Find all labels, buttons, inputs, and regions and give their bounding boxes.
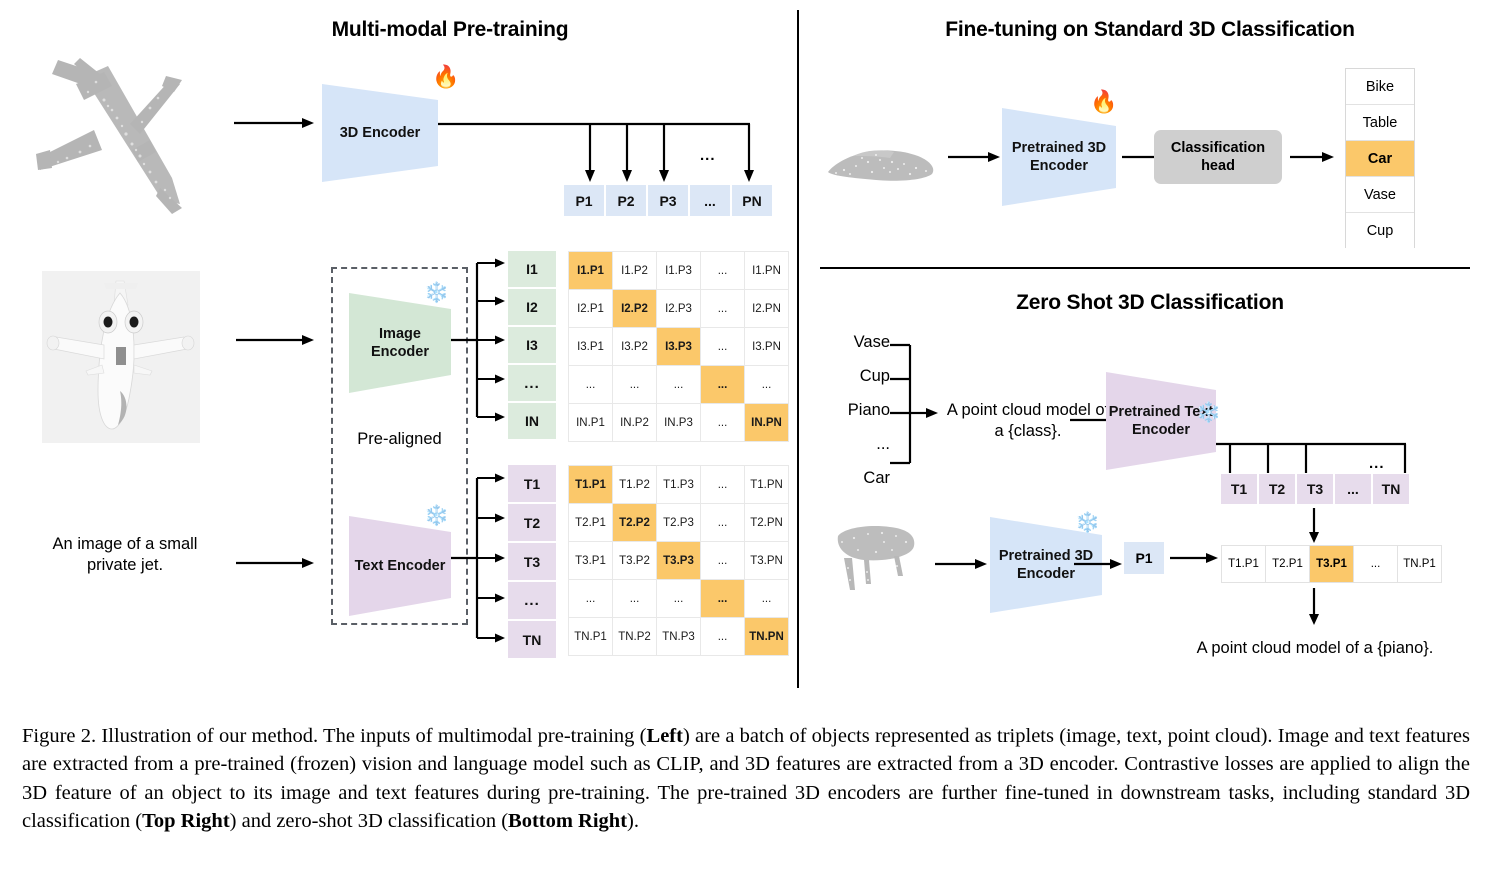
pretrained-3d-encoder-label: Pretrained 3D Encoder — [1002, 139, 1116, 175]
caption-number: Figure 2. — [22, 725, 96, 747]
image-feature-label[interactable]: I2 — [508, 289, 556, 325]
class-name: Piano — [826, 401, 890, 435]
car-point-cloud — [820, 138, 940, 188]
text-feature-label-column: T1 T2 T3 ... TN — [508, 465, 556, 658]
matrix-cell[interactable]: TN.P2 — [613, 618, 656, 655]
ellipsis-above-tn: ... — [1369, 455, 1385, 472]
t-feature-row-zeroshot: T1 T2 T3 ... TN — [1220, 473, 1410, 505]
matrix-cell[interactable]: T2.PN — [745, 504, 788, 541]
matrix-cell[interactable]: ... — [701, 290, 744, 327]
p-feature-cell[interactable]: P1 — [563, 184, 605, 217]
text-encoder-trapezoid: Text Encoder — [349, 516, 451, 616]
matrix-cell[interactable]: ... — [657, 366, 700, 403]
matrix-cell[interactable]: T3.PN — [745, 542, 788, 579]
class-item[interactable]: Vase — [1346, 177, 1414, 213]
arrow-head-to-classlist — [1290, 150, 1334, 164]
matrix-cell-diagonal[interactable]: I1.P1 — [569, 252, 612, 289]
matrix-cell[interactable]: TN.P3 — [657, 618, 700, 655]
arrow-text-to-text-encoder — [236, 556, 314, 570]
text-encoder-label: Text Encoder — [355, 557, 446, 575]
top-right-panel-title: Fine-tuning on Standard 3D Classificatio… — [830, 18, 1470, 42]
snowflake-icon-text-encoder-zs: ❄️ — [1196, 403, 1221, 423]
arrow-pointcloud-to-3d-encoder — [234, 116, 314, 130]
figure-caption: Figure 2. Illustration of our method. Th… — [22, 722, 1470, 835]
left-panel-title: Multi-modal Pre-training — [240, 18, 660, 42]
matrix-cell[interactable]: I1.P2 — [613, 252, 656, 289]
text-feature-label[interactable]: T2 — [508, 504, 556, 541]
matrix-cell[interactable]: ... — [701, 466, 744, 503]
matrix-cell[interactable]: T2.P1 — [569, 504, 612, 541]
p-feature-cell[interactable]: P3 — [647, 184, 689, 217]
matrix-cell[interactable]: T3.P1 — [569, 542, 612, 579]
p-feature-row: P1 P2 P3 ... PN — [563, 184, 773, 217]
similarity-cell[interactable]: ... — [1354, 546, 1397, 582]
matrix-cell[interactable]: ... — [569, 366, 612, 403]
panel-vertical-divider — [797, 10, 799, 688]
matrix-cell[interactable]: I2.P3 — [657, 290, 700, 327]
classification-head-box[interactable]: Classification head — [1154, 130, 1282, 184]
matrix-cell[interactable]: ... — [701, 404, 744, 441]
encoder-3d-label: 3D Encoder — [340, 124, 421, 142]
text-feature-label[interactable]: T1 — [508, 465, 556, 502]
matrix-cell[interactable]: IN.P2 — [613, 404, 656, 441]
bus-image-encoder-to-i-labels — [451, 255, 507, 425]
p-feature-cell[interactable]: P2 — [605, 184, 647, 217]
class-item-selected[interactable]: Car — [1346, 141, 1414, 177]
class-name: Car — [826, 469, 890, 503]
class-item[interactable]: Cup — [1346, 213, 1414, 249]
fire-icon-topright-encoder: 🔥 — [1090, 91, 1117, 113]
arrow-similarity-to-result — [1307, 588, 1321, 626]
class-item[interactable]: Bike — [1346, 69, 1414, 105]
matrix-cell-diagonal[interactable]: T1.P1 — [569, 466, 612, 503]
matrix-cell[interactable]: T1.P2 — [613, 466, 656, 503]
class-name: Vase — [826, 333, 890, 367]
matrix-cell-diagonal[interactable]: I2.P2 — [613, 290, 656, 327]
ellipsis-above-pn: ... — [700, 147, 716, 164]
similarity-cell[interactable]: T2.P1 — [1266, 546, 1309, 582]
piano-point-cloud — [828, 518, 928, 598]
text-feature-label[interactable]: TN — [508, 621, 556, 658]
classification-head-label: Classification head — [1154, 139, 1282, 175]
class-name: ... — [826, 435, 890, 469]
matrix-cell[interactable]: I2.P1 — [569, 290, 612, 327]
matrix-cell[interactable]: ... — [701, 252, 744, 289]
matrix-cell[interactable]: ... — [701, 542, 744, 579]
matrix-cell-diagonal[interactable]: I3.P3 — [657, 328, 700, 365]
p-feature-cell[interactable]: ... — [689, 184, 731, 217]
matrix-cell[interactable]: TN.P1 — [569, 618, 612, 655]
matrix-cell[interactable]: ... — [701, 504, 744, 541]
matrix-cell[interactable]: IN.P1 — [569, 404, 612, 441]
matrix-cell[interactable]: ... — [701, 618, 744, 655]
fire-icon-3d-encoder: 🔥 — [432, 66, 459, 88]
matrix-cell-diagonal[interactable]: T2.P2 — [613, 504, 656, 541]
text-point-similarity-matrix: T1.P1T1.P2T1.P3...T1.PNT2.P1T2.P2T2.P3..… — [568, 465, 789, 656]
image-feature-label-column: I1 I2 I3 ... IN — [508, 251, 556, 439]
arrow-piano-to-3d-encoder — [935, 557, 987, 571]
text-feature-label[interactable]: T3 — [508, 543, 556, 580]
matrix-cell-diagonal[interactable]: TN.PN — [745, 618, 788, 655]
zeroshot-similarity-row: T1.P1 T2.P1 T3.P1 ... TN.P1 — [1221, 545, 1442, 583]
arrow-image-to-image-encoder — [236, 333, 314, 347]
image-feature-label[interactable]: ... — [508, 365, 556, 401]
matrix-cell[interactable]: I3.P2 — [613, 328, 656, 365]
right-panels-horizontal-divider — [820, 267, 1470, 269]
matrix-cell-diagonal[interactable]: IN.PN — [745, 404, 788, 441]
matrix-cell[interactable]: T1.PN — [745, 466, 788, 503]
matrix-cell[interactable]: ... — [745, 580, 788, 617]
image-feature-label[interactable]: I3 — [508, 327, 556, 363]
arrow-t-row-to-similarity — [1307, 508, 1321, 544]
image-point-similarity-matrix: I1.P1I1.P2I1.P3...I1.PNI2.P1I2.P2I2.P3..… — [568, 251, 789, 442]
pre-aligned-label: Pre-aligned — [331, 430, 468, 449]
caption-body: Illustration of our method. The inputs o… — [22, 725, 1470, 832]
matrix-cell[interactable]: I3.P1 — [569, 328, 612, 365]
encoder-3d-trapezoid: 3D Encoder — [322, 84, 438, 182]
bus-text-encoder-to-t-labels — [451, 470, 507, 645]
matrix-cell[interactable]: T1.P3 — [657, 466, 700, 503]
text-input-caption: An image of a small private jet. — [30, 534, 220, 577]
pretrained-3d-encoder-trapezoid-topright: Pretrained 3D Encoder — [1002, 108, 1116, 206]
p1-feature-box[interactable]: P1 — [1124, 542, 1164, 574]
t-feature-cell[interactable]: T2 — [1258, 473, 1296, 505]
similarity-cell[interactable]: TN.P1 — [1398, 546, 1441, 582]
matrix-cell[interactable]: ... — [613, 366, 656, 403]
matrix-cell[interactable]: ... — [613, 580, 656, 617]
p1-feature-label: P1 — [1135, 550, 1152, 566]
bottom-right-panel-title: Zero Shot 3D Classification — [830, 291, 1470, 315]
matrix-cell[interactable]: T2.P3 — [657, 504, 700, 541]
matrix-cell[interactable]: T3.P2 — [613, 542, 656, 579]
private-jet-render-thumbnail — [42, 271, 200, 443]
arrow-car-to-pretrained-encoder — [948, 150, 1000, 164]
matrix-cell[interactable]: ... — [745, 366, 788, 403]
matrix-cell-diagonal[interactable]: ... — [701, 366, 744, 403]
zeroshot-result-text: A point cloud model of a {piano}. — [1180, 639, 1450, 658]
matrix-cell-diagonal[interactable]: T3.P3 — [657, 542, 700, 579]
airplane-point-cloud — [22, 38, 237, 223]
snowflake-icon-image-encoder: ❄️ — [424, 283, 449, 303]
t-feature-cell[interactable]: T3 — [1296, 473, 1334, 505]
class-name: Cup — [826, 367, 890, 401]
zeroshot-class-name-list: Vase Cup Piano ... Car — [826, 333, 890, 503]
t-feature-cell[interactable]: TN — [1372, 473, 1410, 505]
class-item[interactable]: Table — [1346, 105, 1414, 141]
similarity-cell-selected[interactable]: T3.P1 — [1310, 546, 1353, 582]
matrix-cell[interactable]: I1.PN — [745, 252, 788, 289]
similarity-cell[interactable]: T1.P1 — [1222, 546, 1265, 582]
arrow-encoder-to-p1 — [1074, 557, 1122, 571]
matrix-cell-diagonal[interactable]: ... — [701, 580, 744, 617]
snowflake-icon-text-encoder: ❄️ — [424, 506, 449, 526]
image-encoder-label: Image Encoder — [349, 325, 451, 361]
p-feature-cell[interactable]: PN — [731, 184, 773, 217]
matrix-cell[interactable]: ... — [569, 580, 612, 617]
matrix-cell[interactable]: I1.P3 — [657, 252, 700, 289]
matrix-cell[interactable]: ... — [657, 580, 700, 617]
image-encoder-trapezoid: Image Encoder — [349, 293, 451, 393]
t-feature-cell[interactable]: ... — [1334, 473, 1372, 505]
matrix-cell[interactable]: I2.PN — [745, 290, 788, 327]
text-feature-label[interactable]: ... — [508, 582, 556, 619]
arrow-p1-to-similarity-row — [1170, 551, 1218, 565]
snowflake-icon-3d-encoder-zs: ❄️ — [1075, 513, 1100, 533]
t-feature-cell[interactable]: T1 — [1220, 473, 1258, 505]
matrix-cell[interactable]: IN.P3 — [657, 404, 700, 441]
classification-output-list: Bike Table Car Vase Cup — [1345, 68, 1415, 248]
matrix-cell[interactable]: I3.PN — [745, 328, 788, 365]
matrix-cell[interactable]: ... — [701, 328, 744, 365]
image-feature-label[interactable]: I1 — [508, 251, 556, 287]
image-feature-label[interactable]: IN — [508, 403, 556, 439]
